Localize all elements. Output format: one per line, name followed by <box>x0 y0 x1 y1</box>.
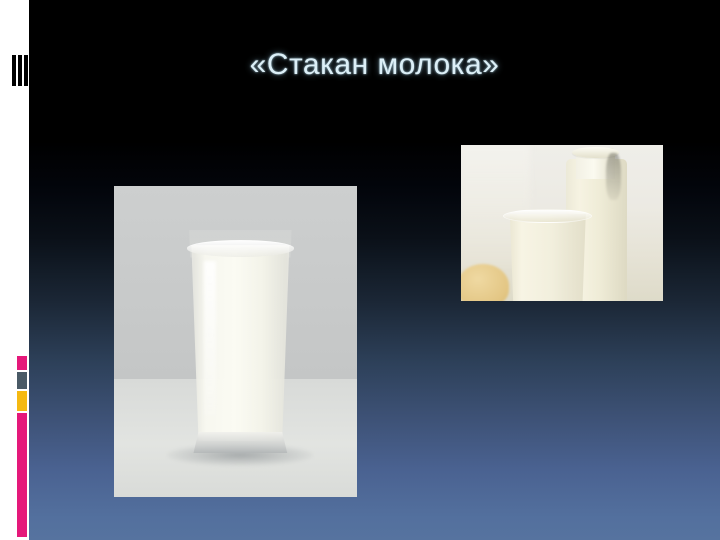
photo2-foreground-object <box>461 264 509 301</box>
glass-of-milk-photo <box>114 186 357 497</box>
photo2-bottle-shadow <box>606 153 620 200</box>
photo-glass-base <box>189 432 291 454</box>
milk-bottle-and-glass-photo <box>461 145 663 301</box>
accent-gold <box>17 391 27 411</box>
slide-title: «Стакан молока» <box>29 48 720 82</box>
black-bar-3 <box>24 55 28 86</box>
accent-pink-top <box>17 356 27 370</box>
photo-glass-highlight <box>204 261 216 417</box>
accent-pink-long <box>17 413 27 537</box>
black-bar-2 <box>18 55 22 86</box>
black-bar-1 <box>12 55 16 86</box>
top-black-bars-decoration <box>12 55 29 86</box>
accent-slate <box>17 372 27 389</box>
presentation-slide: «Стакан молока» <box>0 0 720 540</box>
photo-milk-surface <box>187 240 294 257</box>
photo2-glass-body-milk <box>507 214 588 301</box>
accent-bars-decoration <box>17 356 27 537</box>
photo2-glass-rim <box>503 209 592 223</box>
